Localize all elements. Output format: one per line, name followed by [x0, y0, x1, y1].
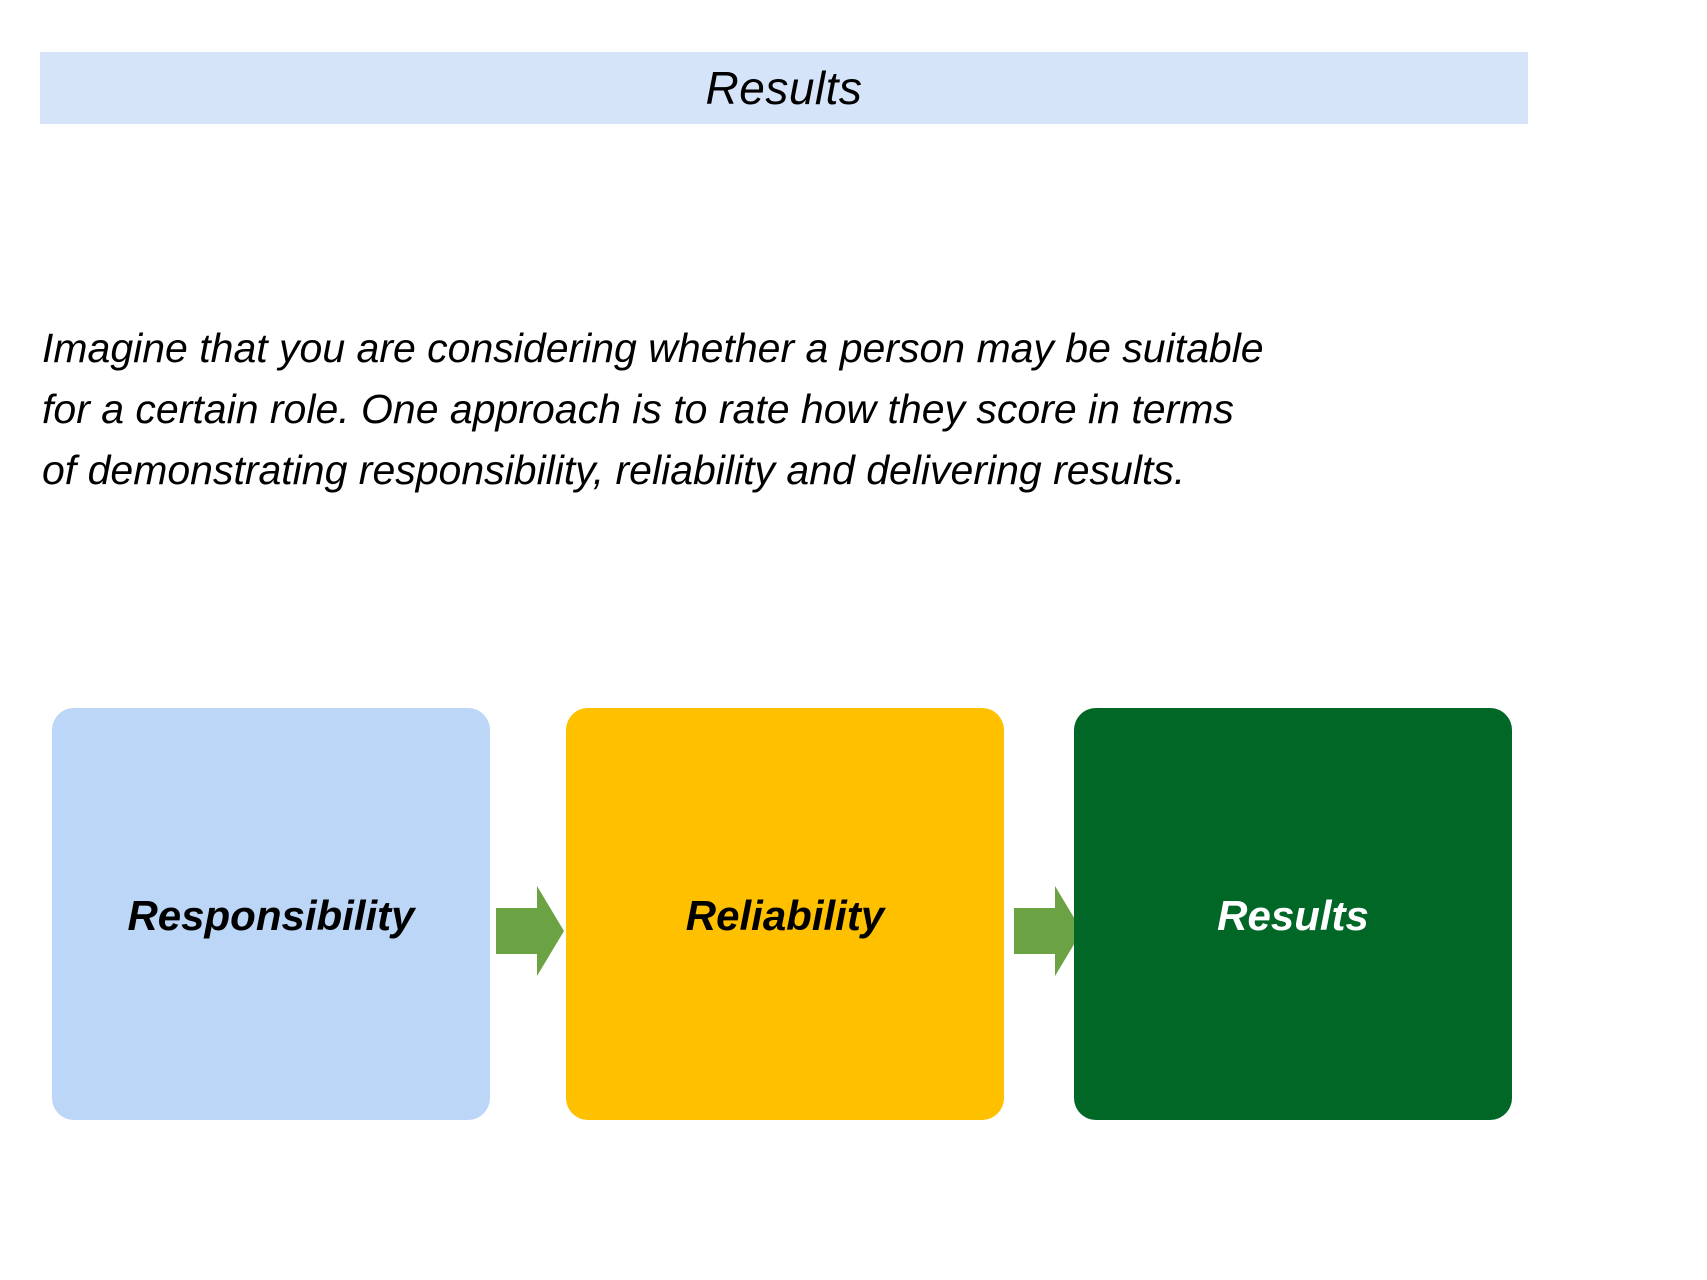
flow-box-responsibility-label: Responsibility: [52, 893, 490, 939]
arrow-right-icon-2: [1014, 886, 1082, 976]
body-paragraph: Imagine that you are considering whether…: [42, 318, 1542, 501]
paragraph-line-2: for a certain role. One approach is to r…: [42, 379, 1542, 440]
title-banner: Results: [40, 52, 1528, 124]
flow-diagram: Responsibility Reliability Results: [0, 708, 1707, 1122]
flow-box-responsibility[interactable]: Responsibility: [52, 708, 490, 1120]
paragraph-line-3: of demonstrating responsibility, reliabi…: [42, 440, 1542, 501]
flow-box-results[interactable]: Results: [1074, 708, 1512, 1120]
paragraph-line-1: Imagine that you are considering whether…: [42, 318, 1542, 379]
flow-box-reliability[interactable]: Reliability: [566, 708, 1004, 1120]
flow-box-reliability-label: Reliability: [566, 893, 1004, 939]
slide-canvas: Results Imagine that you are considering…: [0, 0, 1707, 1280]
arrow-right-icon-1: [496, 886, 564, 976]
page-title: Results: [706, 65, 863, 111]
flow-box-results-label: Results: [1074, 893, 1512, 939]
